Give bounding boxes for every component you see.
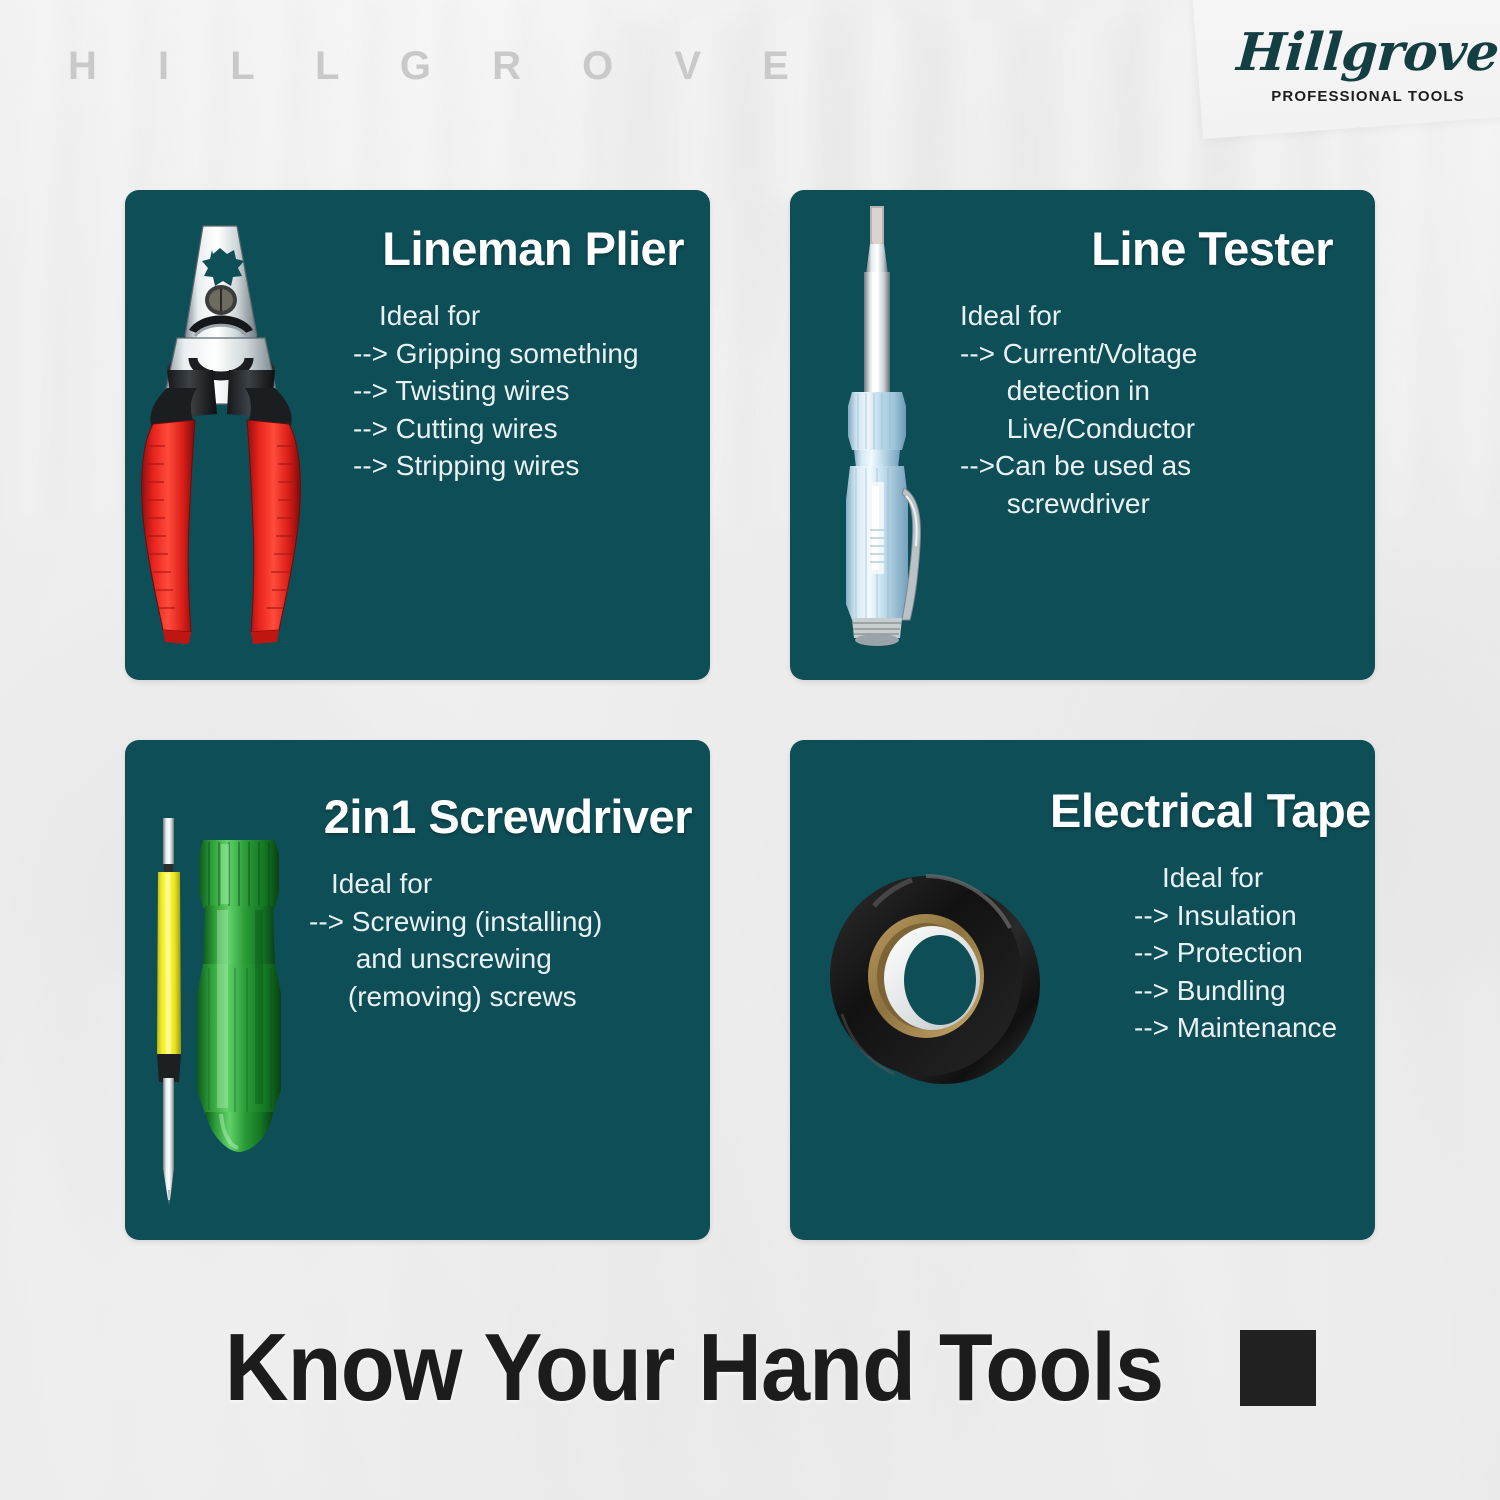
- brand-logo: Hillgrove PROFESSIONAL TOOLS: [1238, 14, 1498, 118]
- electrical-tape-icon: [816, 860, 1046, 1090]
- tool-card-electrical-tape: Electrical Tape Ideal for --> Insulation…: [790, 740, 1375, 1240]
- card-title: Electrical Tape: [1050, 786, 1371, 835]
- tool-card-lineman-plier: Lineman Plier Ideal for --> Gripping som…: [125, 190, 710, 680]
- card-body: Electrical Tape Ideal for --> Insulation…: [1050, 740, 1375, 1240]
- infographic-page: H I L L G R O V E Hillgrove PROFESSIONAL…: [0, 0, 1500, 1500]
- ideal-for-label: Ideal for: [331, 865, 692, 903]
- feature-bullet: --> Gripping something: [353, 335, 684, 373]
- brand-watermark: H I L L G R O V E: [68, 44, 814, 89]
- feature-bullet: --> Insulation: [1134, 897, 1371, 935]
- card-feature-list: Ideal for --> Gripping something --> Twi…: [325, 297, 684, 485]
- card-body: Line Tester Ideal for --> Current/Voltag…: [960, 190, 1375, 680]
- card-media: [790, 740, 1050, 1240]
- screwdriver-icon: [125, 818, 295, 1208]
- feature-bullet: --> Twisting wires: [353, 372, 684, 410]
- tool-card-grid: Lineman Plier Ideal for --> Gripping som…: [125, 190, 1375, 1240]
- tool-card-line-tester: Line Tester Ideal for --> Current/Voltag…: [790, 190, 1375, 680]
- feature-bullet: -->Can be used as screwdriver: [960, 447, 1333, 522]
- card-title: Lineman Plier: [325, 224, 684, 273]
- feature-bullet: --> Maintenance: [1134, 1009, 1371, 1047]
- footer-headline: Know Your Hand Tools: [0, 1320, 1500, 1416]
- headline-block-accent: [1240, 1330, 1316, 1406]
- card-media: [125, 190, 325, 680]
- logo-tagline: PROFESSIONAL TOOLS: [1271, 88, 1464, 105]
- card-title: 2in1 Screwdriver: [285, 792, 692, 841]
- ideal-for-label: Ideal for: [379, 297, 684, 335]
- card-feature-list: Ideal for --> Screwing (installing) and …: [285, 865, 692, 1015]
- card-media: [790, 190, 960, 680]
- headline-text: Know Your Hand Tools: [225, 1320, 1163, 1416]
- feature-bullet: --> Cutting wires: [353, 410, 684, 448]
- card-body: 2in1 Screwdriver Ideal for --> Screwing …: [285, 740, 710, 1240]
- lineman-plier-icon: [133, 218, 323, 648]
- feature-bullet: --> Current/Voltage detection in Live/Co…: [960, 335, 1333, 448]
- card-title: Line Tester: [960, 224, 1333, 273]
- card-feature-list: Ideal for --> Current/Voltage detection …: [960, 297, 1333, 522]
- tool-card-screwdriver: 2in1 Screwdriver Ideal for --> Screwing …: [125, 740, 710, 1240]
- card-feature-list: Ideal for --> Insulation --> Protection …: [1050, 859, 1371, 1047]
- card-media: [125, 740, 285, 1240]
- feature-bullet: --> Screwing (installing) and unscrewing…: [309, 903, 692, 1016]
- feature-bullet: --> Stripping wires: [353, 447, 684, 485]
- ideal-for-label: Ideal for: [1162, 859, 1371, 897]
- logo-wordmark: Hillgrove: [1236, 27, 1500, 79]
- feature-bullet: --> Bundling: [1134, 972, 1371, 1010]
- ideal-for-label: Ideal for: [960, 297, 1333, 335]
- card-body: Lineman Plier Ideal for --> Gripping som…: [325, 190, 710, 680]
- line-tester-icon: [820, 200, 950, 650]
- feature-bullet: --> Protection: [1134, 934, 1371, 972]
